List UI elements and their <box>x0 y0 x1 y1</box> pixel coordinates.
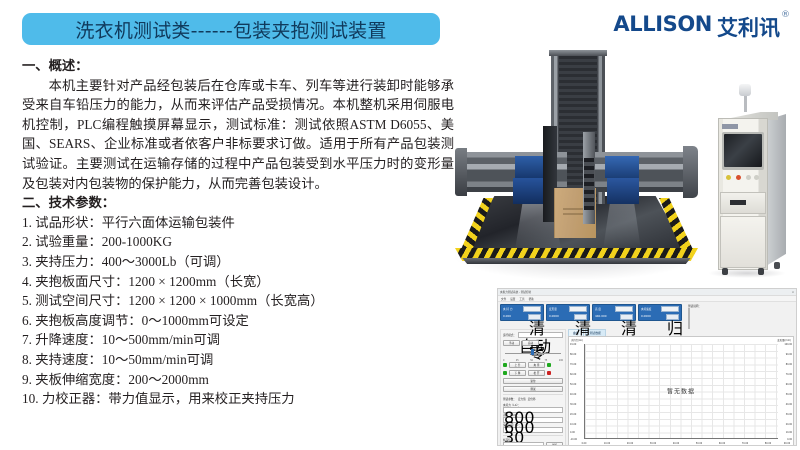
menu-item-file[interactable]: 文件 <box>501 297 506 301</box>
spec-item: 1. 试品形状：平行六面体运输包装件 <box>22 213 454 233</box>
up-button[interactable]: 上 升 <box>509 362 526 368</box>
spec-item: 8. 夹持速度：10～50mm/min可调 <box>22 350 454 370</box>
brand-logo: ALLISON 艾利讯 ® <box>613 12 790 42</box>
y2-tick-label: 50.00 <box>786 393 792 396</box>
x-tick-label: 10.00 <box>604 442 610 445</box>
kpi-deformation: 变形量 0.0000 清零 <box>546 304 590 321</box>
release-button[interactable]: 松 开 <box>528 370 545 376</box>
y-tick-label: 60.00 <box>570 373 576 376</box>
field-group-force: 夹持力（Lb）： 800 <box>503 403 563 413</box>
cabinet-push-button-icon <box>754 175 759 180</box>
kpi-clamp-speed: 夹持速度 0.0000 归位 <box>638 304 682 321</box>
kpi-value: 440.000 <box>595 314 607 318</box>
reset-row: 复位 <box>503 378 563 384</box>
cabinet-indicator-lamp-icon <box>726 175 731 180</box>
spec-item: 4. 夹抱板面尺寸：1200 × 1200mm（长宽） <box>22 272 454 292</box>
chart-legend-right: 变形量(mm) <box>777 338 791 342</box>
machine-left-beam-end <box>455 148 467 196</box>
y-tick-label: 80.00 <box>570 353 576 356</box>
spec-item: 10. 力校正器：带力值显示，用来校正夹持压力 <box>22 389 454 409</box>
kpi-value: 0.0000 <box>549 314 559 318</box>
overview-heading: 一、概述： <box>22 56 454 76</box>
reset-button[interactable]: 复位 <box>503 378 563 384</box>
y2-tick-label: 40.00 <box>786 403 792 406</box>
y-tick-label: 20.00 <box>570 413 576 416</box>
browse-button[interactable]: 浏览 <box>546 442 563 446</box>
cabinet-side-panel <box>766 114 786 266</box>
y2-tick-label: 10.00 <box>786 431 792 434</box>
platform-front-edge <box>455 258 698 264</box>
x-tick-label: 60.00 <box>719 442 725 445</box>
software-kpi-strip: 夹 持 力 0.000 清零 变形量 0.0000 清零 高 度 440.000… <box>498 302 796 329</box>
tech-params-heading: 二、技术参数： <box>22 193 454 213</box>
jog-row-up-clamp: 上 升 夹 紧 <box>503 362 563 368</box>
cabinet-floor-shadow <box>708 270 786 278</box>
y2-tick-label: 0.00 <box>787 438 792 441</box>
x-tick-label: 40.00 <box>673 442 679 445</box>
cabinet-push-button-icon <box>746 175 751 180</box>
kpi-unit-box <box>615 306 633 312</box>
machine-clamp-left-lower <box>513 178 547 204</box>
menu-item-help[interactable]: 帮助 <box>529 297 534 301</box>
cabinet-button-row <box>724 174 762 182</box>
x-tick-label: 20.00 <box>627 442 633 445</box>
software-window-title: 夹抱力测试系统 - 测试控制 <box>500 290 531 294</box>
start-test-button[interactable]: 测试 <box>503 386 563 392</box>
slider-tick: 0 <box>503 359 504 362</box>
menu-item-settings[interactable]: 设置 <box>510 297 515 301</box>
page-title: 洗衣机测试类------包装夹抱测试装置 <box>75 16 386 43</box>
kpi-zero-button[interactable]: 清零 <box>528 314 541 320</box>
x-tick-label: 50.00 <box>696 442 702 445</box>
machine-photo <box>455 48 698 280</box>
kpi-clamp-force: 夹 持 力 0.000 清零 <box>500 304 544 321</box>
kpi-label: 高 度 <box>595 307 601 311</box>
slider-knob[interactable] <box>531 349 534 355</box>
cabinet-caster <box>758 268 764 275</box>
y-tick-label: 70.00 <box>570 363 576 366</box>
cabinet-touch-screen <box>724 134 762 167</box>
machine-clamp-right-upper <box>605 156 639 178</box>
x-tick-label: 70.00 <box>742 442 748 445</box>
kpi-label: 夹 持 力 <box>503 307 512 311</box>
machine-right-beam-end <box>683 146 698 198</box>
sample-row: 1 浏览 <box>503 442 563 446</box>
measurement-chart: 夹持力(Lb) 变形量(mm) 91.00 80.00 70.00 60.00 … <box>568 336 794 446</box>
kpi-zero-button[interactable]: 清零 <box>574 314 587 320</box>
cabinet-lower-door <box>720 216 766 268</box>
y-tick-label: 0.00 <box>570 431 575 434</box>
chart-empty-annotation: 暂无数据 <box>667 387 695 396</box>
spec-item: 7. 升降速度：10～500mm/min可调 <box>22 330 454 350</box>
x-tick-label: 0.00 <box>582 442 587 445</box>
mode-label: 运行模式： <box>503 333 516 337</box>
spec-item: 9. 夹板伸缩宽度：200～2000mm <box>22 370 454 390</box>
machine-plate-bolt-strip <box>584 158 594 210</box>
control-software-screenshot: 夹抱力测试系统 - 测试控制 × 文件 设置 工具 帮助 夹 持 力 0.000… <box>497 288 797 446</box>
spec-item: 6. 夹抱板高度调节：0～1000mm可设定 <box>22 311 454 331</box>
cabinet-drawer-handle <box>730 200 746 205</box>
status-led-icon <box>503 363 507 367</box>
cabinet-tower-light-icon <box>739 84 751 96</box>
kpi-unit-box <box>661 306 679 312</box>
kpi-unit-box <box>569 306 587 312</box>
spec-item: 5. 测试空间尺寸：1200 × 1200 × 1000mm（长宽高） <box>22 291 454 311</box>
registered-trademark-icon: ® <box>781 10 790 20</box>
radio-force-mode[interactable]: 定力值 <box>518 397 526 401</box>
test-row: 测试 <box>503 386 563 392</box>
spec-item: 2. 试验重量：200-1000KG <box>22 232 454 252</box>
kpi-home-button[interactable]: 归位 <box>666 314 679 320</box>
kpi-value: 0.0000 <box>641 314 651 318</box>
software-title-bar: 夹抱力测试系统 - 测试控制 × <box>498 289 796 296</box>
y2-tick-label: 70.00 <box>786 373 792 376</box>
slider-tick: 100 <box>559 359 563 362</box>
clamp-button[interactable]: 夹 紧 <box>528 362 545 368</box>
down-button[interactable]: 下 降 <box>509 370 526 376</box>
y2-tick-label: 80.00 <box>786 363 792 366</box>
cabinet-emergency-stop-icon <box>736 175 741 180</box>
specification-text-block: 一、概述： 本机主要针对产品经包装后在仓库或卡车、列车等进行装卸时能够承受来自车… <box>22 56 454 409</box>
kpi-unit-box <box>523 306 541 312</box>
cabinet-brand-label <box>722 124 738 129</box>
x-tick-label: 30.00 <box>650 442 656 445</box>
status-led-icon <box>547 371 551 375</box>
y2-tick-label: 20.00 <box>786 423 792 426</box>
params-heading-row: 测试参数： 定力值 定位移 <box>503 397 563 401</box>
software-note-group: 测试说明： <box>688 304 701 328</box>
close-icon[interactable]: × <box>792 291 794 294</box>
params-heading: 测试参数： <box>503 397 516 401</box>
kpi-label: 变形量 <box>549 307 557 311</box>
y2-tick-label: 90.00 <box>786 353 792 356</box>
x-tick-label: 90.00 <box>784 442 790 445</box>
y2-tick-label: 30.00 <box>786 413 792 416</box>
y-tick-label: -10.00 <box>570 438 577 441</box>
brand-logo-chinese: 艾利讯 <box>717 12 780 42</box>
chart-legend-left: 夹持力(Lb) <box>571 338 583 342</box>
x-tick-label: 80.00 <box>765 442 771 445</box>
y-tick-label: 40.00 <box>570 393 576 396</box>
y-tick-label: 50.00 <box>570 383 576 386</box>
manual-mode-button[interactable]: 手动 <box>503 340 520 346</box>
jog-row-down-release: 下 降 松 开 <box>503 370 563 376</box>
machine-clamp-right-lower <box>607 178 639 204</box>
divider <box>503 394 563 395</box>
kpi-height: 高 度 440.000 清零 <box>592 304 636 321</box>
speed-slider[interactable] <box>503 348 563 357</box>
overview-paragraph: 本机主要针对产品经包装后在仓库或卡车、列车等进行装卸时能够承受来自车铅压力的能力… <box>22 76 454 194</box>
y-tick-label: 30.00 <box>570 403 576 406</box>
menu-item-tools[interactable]: 工具 <box>519 297 524 301</box>
note-input[interactable] <box>688 308 690 329</box>
status-led-icon <box>547 363 551 367</box>
y-tick-label: 10.00 <box>570 423 576 426</box>
kpi-zero-button[interactable]: 清零 <box>620 314 633 320</box>
sample-id-input[interactable]: 1 <box>503 442 544 446</box>
control-cabinet-photo <box>700 84 796 280</box>
machine-tower-cap <box>549 50 607 56</box>
page-title-banner: 洗衣机测试类------包装夹抱测试装置 <box>22 13 440 45</box>
y2-tick-label: 100.00 <box>784 343 792 346</box>
brand-logo-latin: ALLISON <box>613 12 712 36</box>
kpi-value: 0.000 <box>503 314 511 318</box>
status-led-icon <box>503 371 507 375</box>
cabinet-caster <box>722 268 728 275</box>
y-tick-label: 91.00 <box>570 343 576 346</box>
spec-item: 3. 夹持压力：400～3000Lb（可调） <box>22 252 454 272</box>
cabinet-caster <box>774 262 780 269</box>
kpi-label: 夹持速度 <box>641 307 651 311</box>
radio-displacement-mode[interactable]: 定位移 <box>528 397 536 401</box>
software-plot-panel: 曲线 测试数据 夹持力(Lb) 变形量(mm) 91.00 80.00 70.0… <box>568 329 794 446</box>
y2-tick-label: 60.00 <box>786 383 792 386</box>
